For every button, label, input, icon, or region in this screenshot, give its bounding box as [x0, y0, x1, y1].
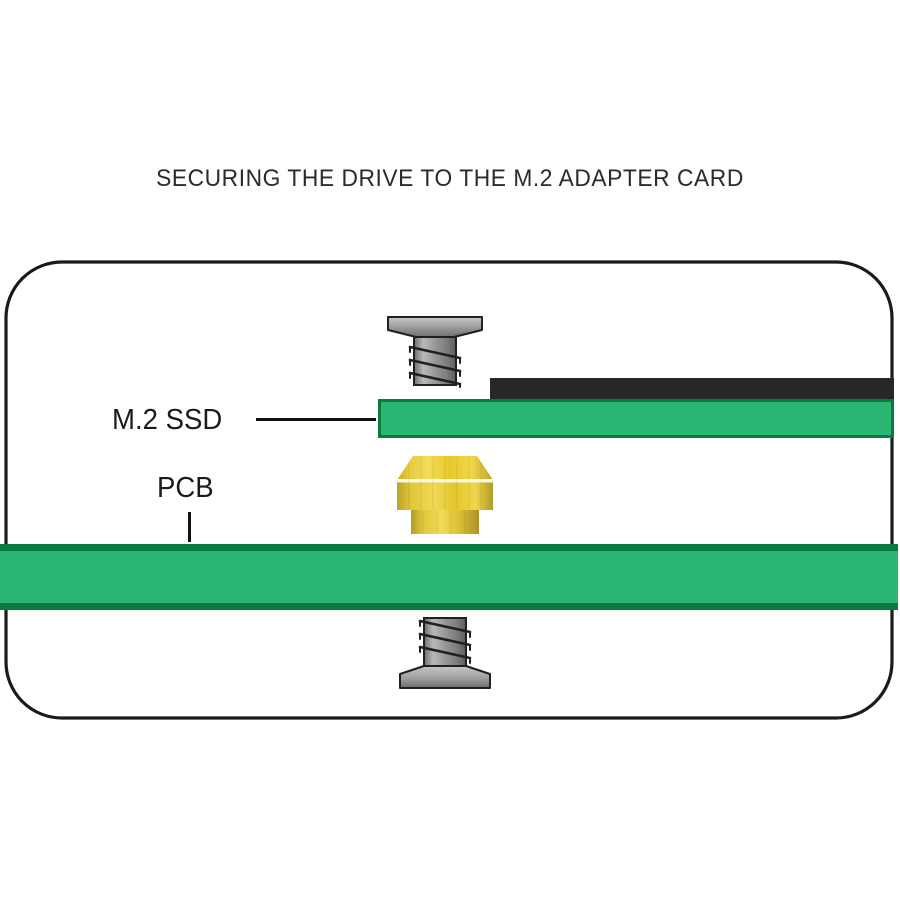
- adapter-card-pcb: [0, 544, 898, 610]
- leader-line-pcb: [188, 512, 191, 542]
- leader-line-m2-ssd: [256, 418, 376, 421]
- label-m2-ssd: M.2 SSD: [112, 404, 222, 437]
- brass-standoff-icon: [375, 450, 515, 538]
- ssd-nand-chip: [490, 378, 894, 401]
- label-pcb: PCB: [157, 472, 214, 505]
- screw-top-icon: [380, 313, 490, 395]
- m2-ssd-board: [378, 399, 894, 438]
- diagram-root: SECURING THE DRIVE TO THE M.2 ADAPTER CA…: [0, 0, 900, 900]
- screw-bottom-icon: [396, 612, 496, 694]
